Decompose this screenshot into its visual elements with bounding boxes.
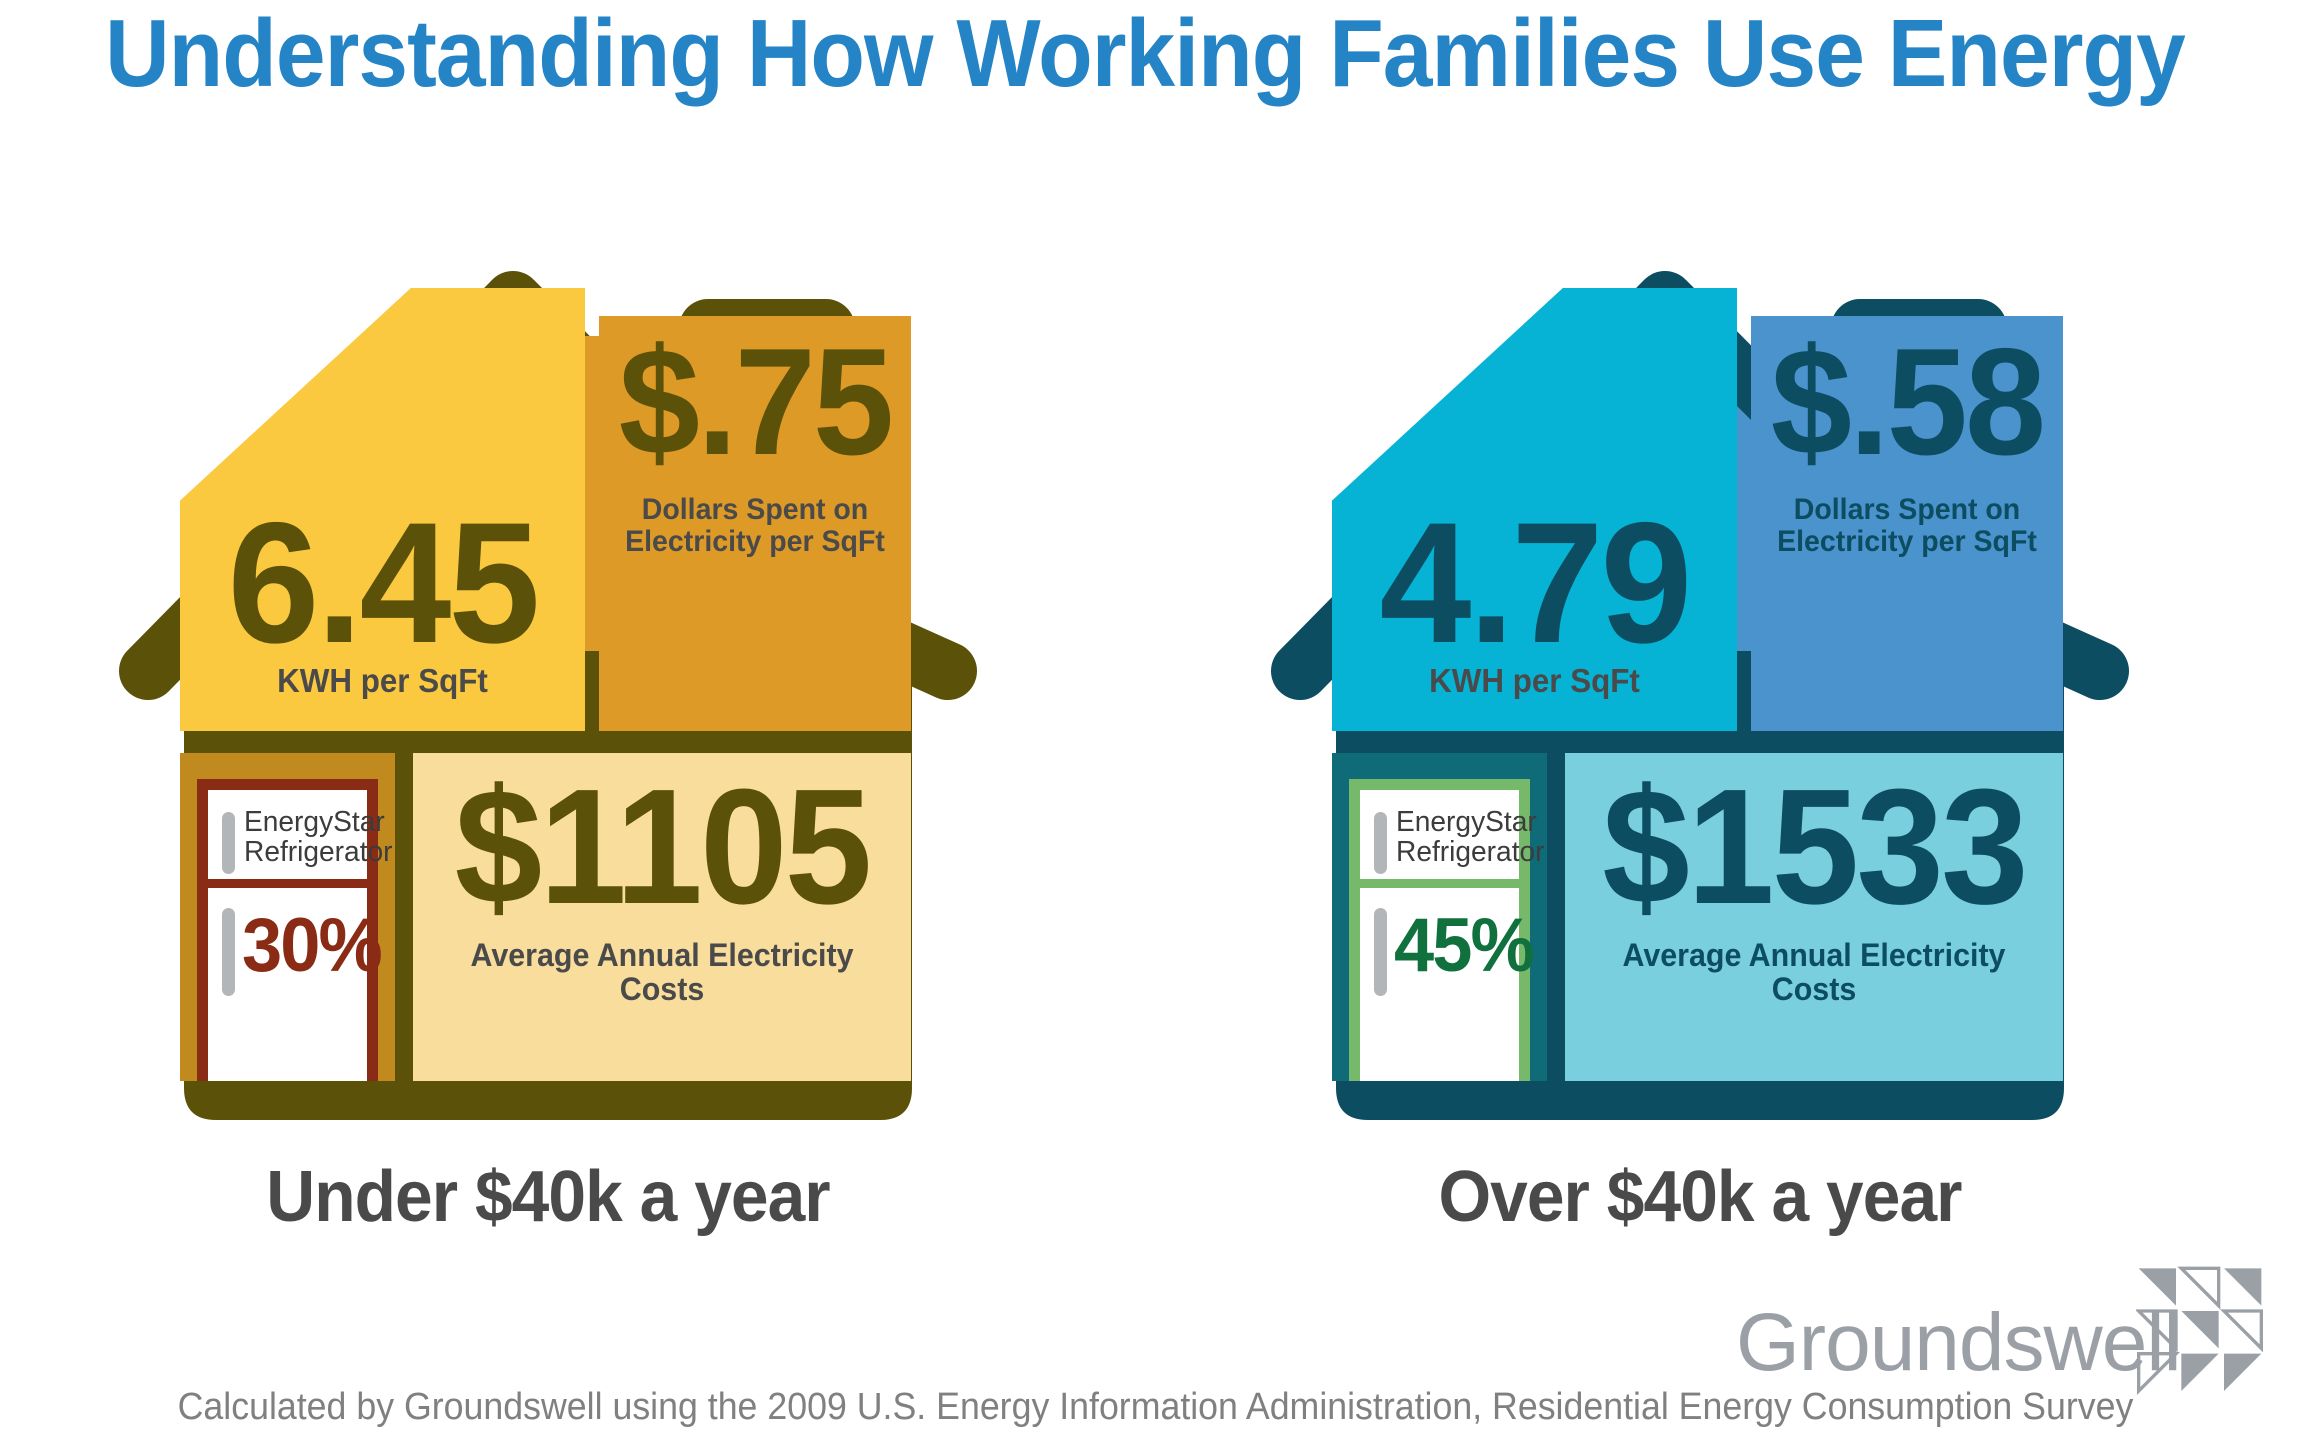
kwh-label-left: KWH per SqFt [190, 664, 575, 699]
kwh-value-right: 4.79 [1340, 508, 1729, 659]
refrigerator-freezer-door-left: EnergyStar Refrigerator [208, 790, 367, 888]
refrigerator-freezer-door-right: EnergyStar Refrigerator [1360, 790, 1519, 888]
refrigerator-label-right: EnergyStar Refrigerator [1396, 808, 1510, 868]
refrigerator-handle-icon-bottom-right [1374, 908, 1387, 996]
annual-cost-value-right: $1533 [1575, 775, 2053, 919]
dollar-per-sqft-value-right: $.58 [1757, 336, 2057, 470]
panel-annual-cost-left: $1105 Average Annual Electricity Costs [413, 753, 911, 1081]
refrigerator-handle-icon-top-left [222, 812, 235, 874]
groundswell-wordmark: Groundswell [1736, 1296, 2181, 1390]
panel-kwh-right: 4.79 KWH per SqFt [1332, 208, 1737, 731]
panel-fridge-right: EnergyStar Refrigerator 45% [1332, 753, 1547, 1081]
house-card-under-40k: 6.45 KWH per SqFt $.75 Dollars Spent on … [108, 208, 988, 1148]
annual-cost-value-left: $1105 [423, 775, 901, 919]
house-panels-left: 6.45 KWH per SqFt $.75 Dollars Spent on … [108, 208, 988, 1148]
source-footnote: Calculated by Groundswell using the 2009… [69, 1386, 2241, 1429]
refrigerator-percent-right: 45% [1394, 908, 1533, 984]
annual-cost-label-left: Average Annual Electricity Costs [425, 939, 898, 1007]
house-caption-over-40k: Over $40k a year [1286, 1156, 2113, 1238]
panel-dollar-per-sqft-right: $.58 Dollars Spent on Electricity per Sq… [1751, 316, 2063, 731]
refrigerator-percent-left: 30% [242, 908, 381, 984]
refrigerator-icon-left: EnergyStar Refrigerator 30% [197, 779, 378, 1081]
refrigerator-handle-icon-bottom-left [222, 908, 235, 996]
panel-fridge-left: EnergyStar Refrigerator 30% [180, 753, 395, 1081]
refrigerator-handle-icon-top-right [1374, 812, 1387, 874]
panel-kwh-left: 6.45 KWH per SqFt [180, 208, 585, 731]
house-caption-under-40k: Under $40k a year [134, 1156, 961, 1238]
kwh-value-left: 6.45 [188, 508, 577, 659]
dollar-per-sqft-label-right: Dollars Spent on Electricity per SqFt [1759, 494, 2055, 558]
panel-annual-cost-right: $1533 Average Annual Electricity Costs [1565, 753, 2063, 1081]
refrigerator-label-left: EnergyStar Refrigerator [244, 808, 358, 868]
house-panels-right: 4.79 KWH per SqFt $.58 Dollars Spent on … [1260, 208, 2140, 1148]
panel-dollar-per-sqft-left: $.75 Dollars Spent on Electricity per Sq… [599, 316, 911, 731]
kwh-label-right: KWH per SqFt [1342, 664, 1727, 699]
page-title: Understanding How Working Families Use E… [80, 6, 2210, 102]
dollar-per-sqft-value-left: $.75 [605, 336, 905, 470]
annual-cost-label-right: Average Annual Electricity Costs [1577, 939, 2050, 1007]
refrigerator-icon-right: EnergyStar Refrigerator 45% [1349, 779, 1530, 1081]
dollar-per-sqft-label-left: Dollars Spent on Electricity per SqFt [607, 494, 903, 558]
house-card-over-40k: 4.79 KWH per SqFt $.58 Dollars Spent on … [1260, 208, 2140, 1148]
groundswell-logo: Groundswell [1736, 1288, 2296, 1398]
